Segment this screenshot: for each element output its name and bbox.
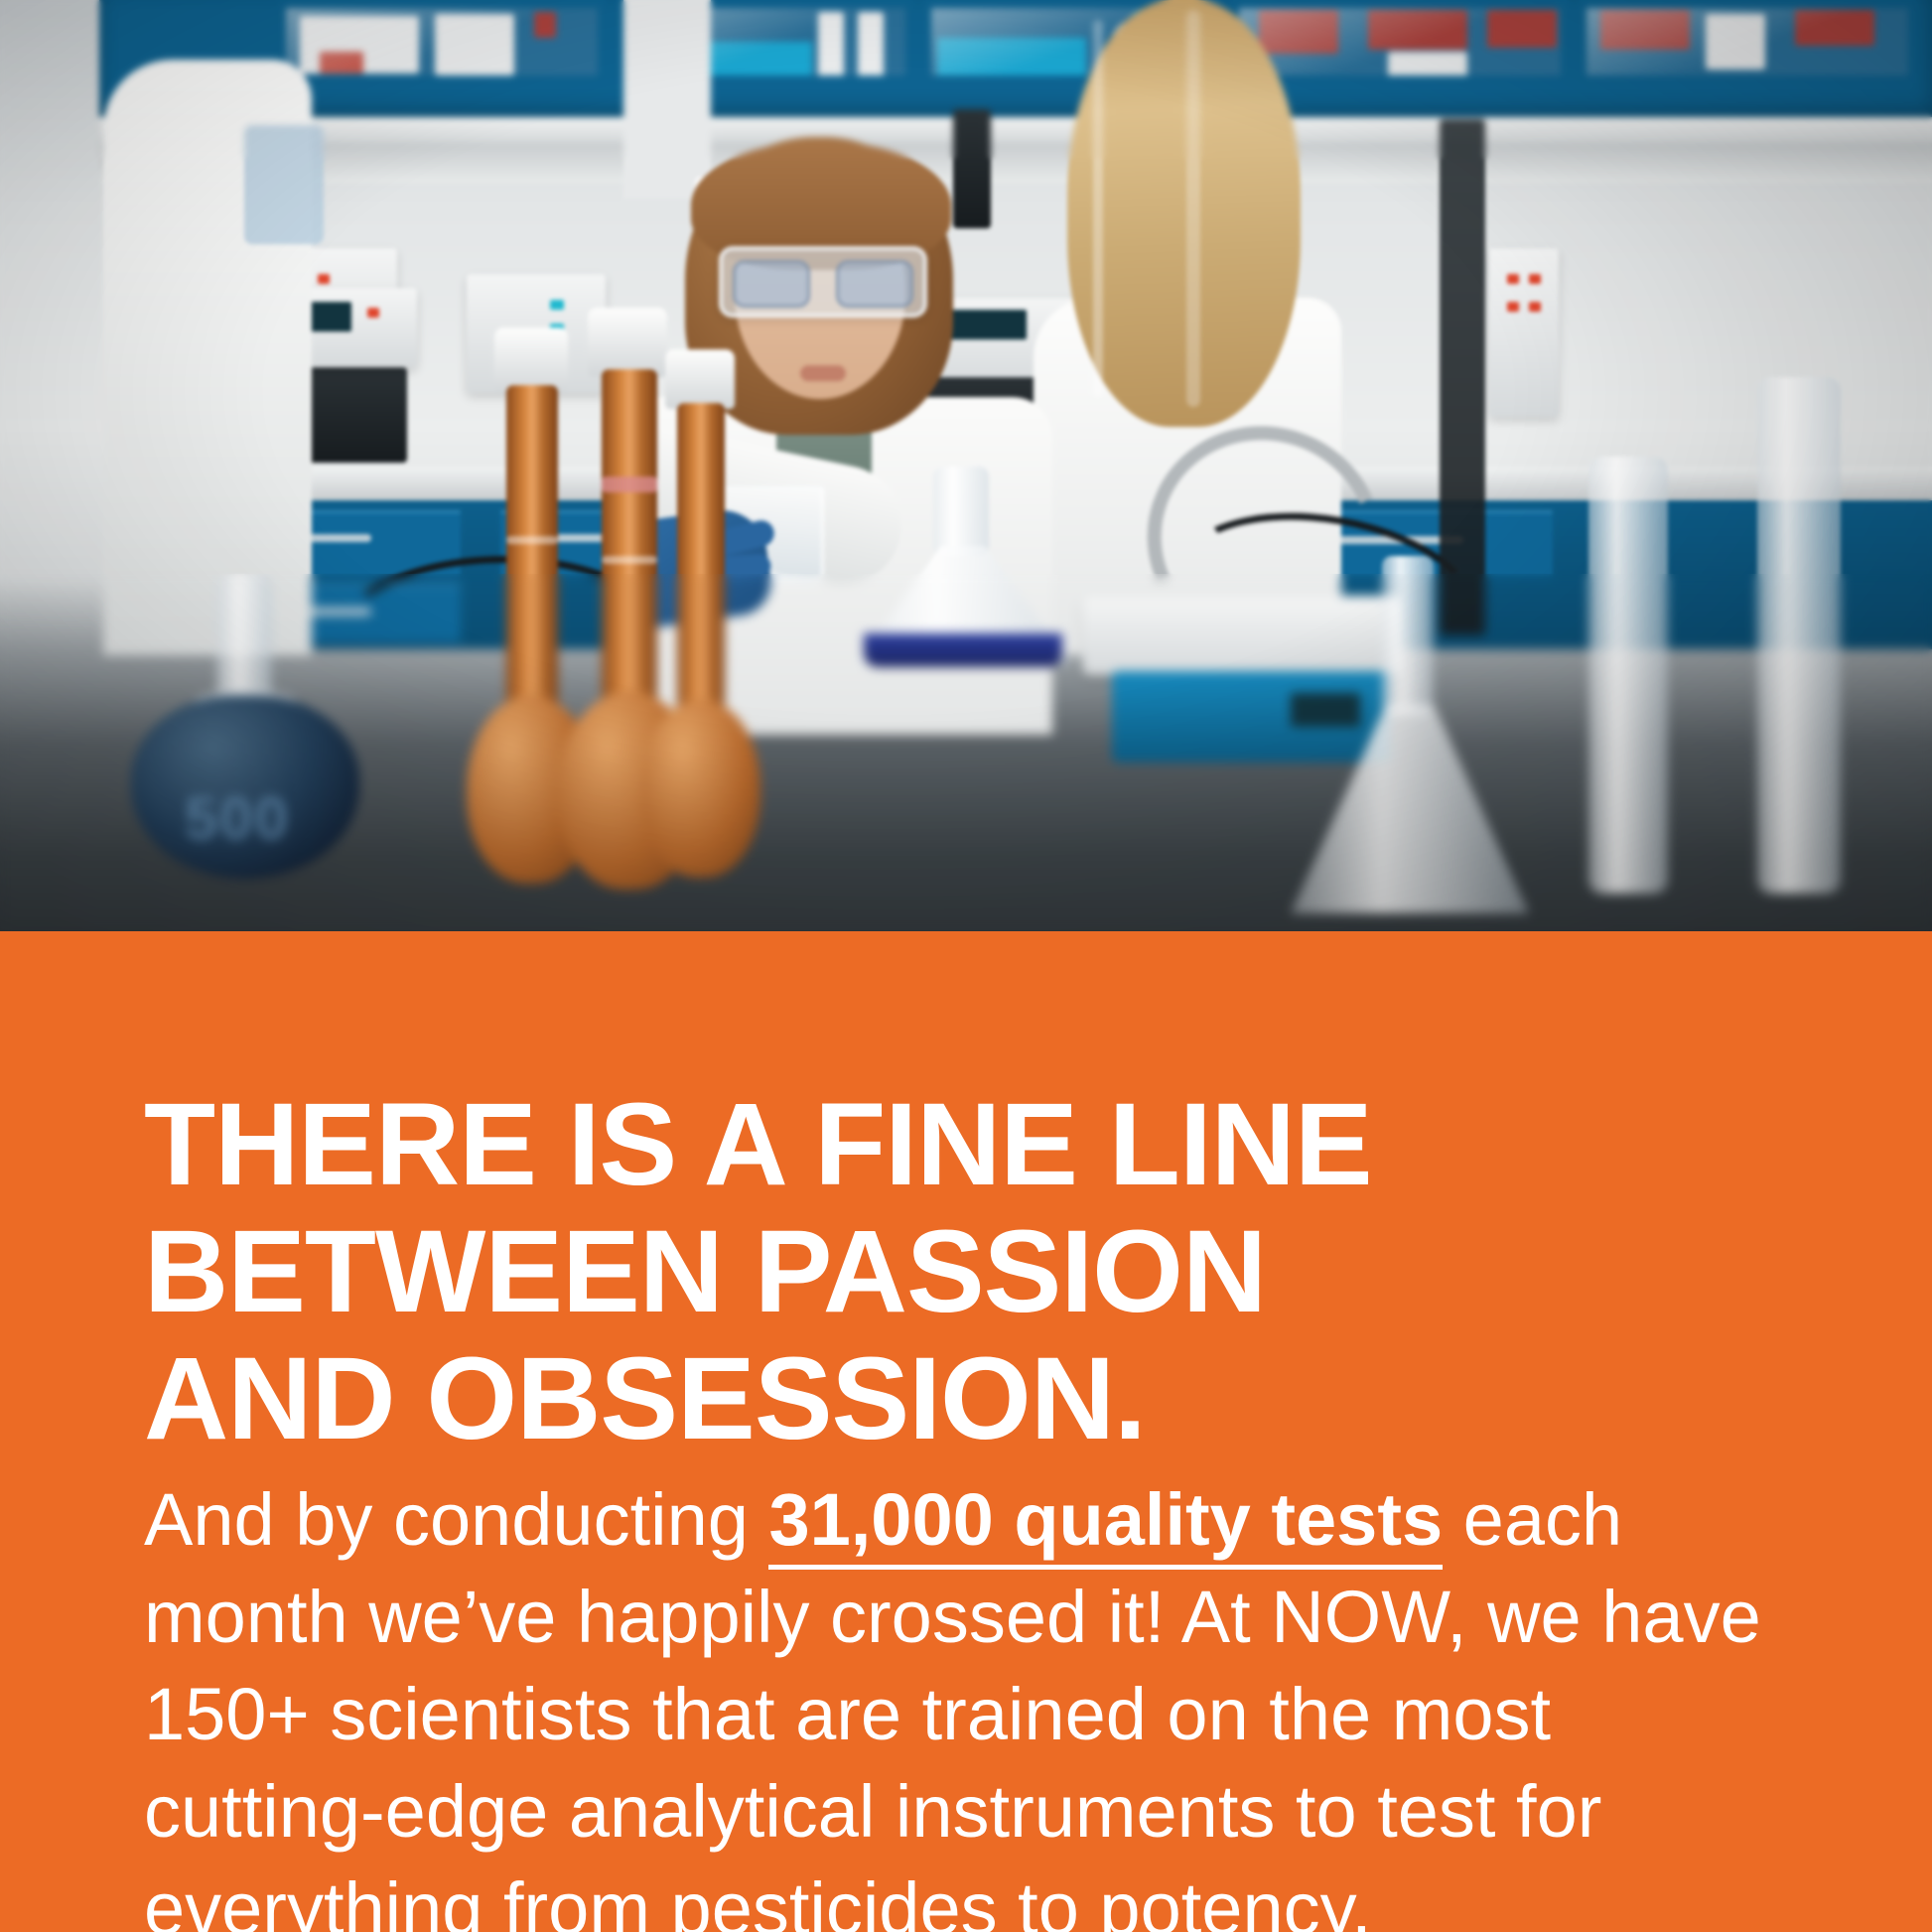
safety-goggles: [719, 246, 927, 318]
wall-panel: [1489, 248, 1559, 417]
cabinet-glass-door: [1579, 0, 1916, 83]
lab-photo: 500: [0, 0, 1932, 931]
scarf: [244, 125, 324, 244]
mouth: [800, 365, 846, 381]
stat-highlight: 31,000 quality tests: [768, 1478, 1443, 1570]
graduated-cylinder: [1529, 457, 1727, 913]
dark-column: [1440, 119, 1485, 635]
scientist-left: [103, 60, 322, 655]
volumetric-flask-500: 500: [131, 576, 359, 874]
graduated-cylinder: [1708, 377, 1886, 913]
flask-volume-label: 500: [163, 788, 312, 850]
headline: THERE IS A FINE LINE BETWEEN PASSION AND…: [144, 1081, 1832, 1462]
amber-volumetric-flask: [641, 349, 760, 886]
cabinet-glass-door: [278, 0, 606, 83]
body-copy: And by conducting 31,000 quality tests e…: [144, 1471, 1812, 1932]
upper-cabinet-band: [99, 0, 1932, 119]
promo-poster: 500 THERE IS A FINE LINE BETWEEN PASSION…: [0, 0, 1932, 1932]
erlenmeyer-flask: [854, 467, 1072, 665]
hair: [1067, 0, 1301, 427]
body-lead: And by conducting: [144, 1478, 768, 1561]
glassware: [1291, 556, 1529, 913]
